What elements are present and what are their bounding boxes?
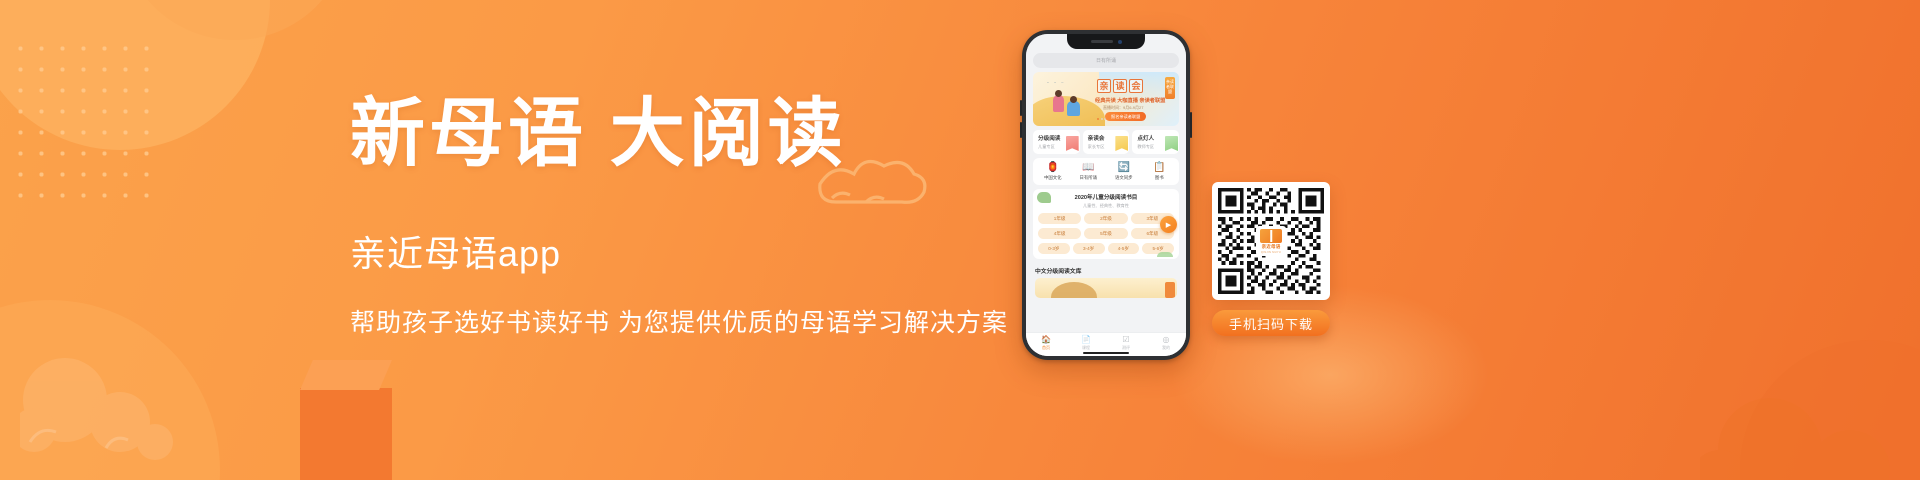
- phone-power-button: [1190, 112, 1192, 138]
- library-section: 中文分级阅读文库: [1033, 263, 1179, 298]
- grass-decor-icon: [1157, 252, 1173, 257]
- tab-label: 测评: [1122, 345, 1130, 351]
- assessment-icon: ☑: [1122, 335, 1129, 344]
- quicknav-item-chinese-culture[interactable]: 🏮 中国文化: [1035, 162, 1071, 181]
- app-screen: 日有所诵 ᵕ ᵕ ᵕ 亲 读 会 亲读者联盟 经典共读: [1026, 34, 1186, 356]
- banner-child-blue-head: [1070, 96, 1077, 103]
- decor-circle-top-left-2: [120, 0, 350, 40]
- speaker-icon: [1091, 40, 1113, 43]
- library-title: 中文分级阅读文库: [1035, 266, 1177, 275]
- decor-cloud-bottom-right: [1700, 360, 1920, 480]
- grade-tag[interactable]: 2年级: [1084, 213, 1127, 224]
- scan-download-button[interactable]: 手机扫码下载: [1212, 310, 1330, 336]
- app-promo-banner[interactable]: ᵕ ᵕ ᵕ 亲 读 会 亲读者联盟 经典共读 大咖直播 亲读者联盟 直播时间：9…: [1033, 72, 1179, 126]
- lantern-icon: 🏮: [1047, 162, 1059, 173]
- banner-cta-button[interactable]: 报名亲读者联盟: [1105, 112, 1146, 121]
- quicknav-label: 日有所诵: [1079, 175, 1097, 181]
- open-book-icon: 📖: [1082, 162, 1094, 173]
- search-input[interactable]: 日有所诵: [1033, 53, 1179, 68]
- tab-home[interactable]: 🏠 首页: [1026, 335, 1066, 351]
- grade-tag-row-2: 4年级 5年级 6年级: [1038, 228, 1174, 239]
- banner-child-blue: [1067, 101, 1080, 116]
- qr-code-panel: 亲近母语 QINJIN MUYU: [1212, 182, 1330, 300]
- decor-cloud-left-bottom: [20, 330, 190, 460]
- quicknav-label: 中国文化: [1044, 175, 1062, 181]
- age-tag[interactable]: 0-3岁: [1038, 243, 1070, 254]
- search-placeholder: 日有所诵: [1096, 57, 1116, 64]
- home-indicator: [1083, 352, 1129, 354]
- sync-icon: 🔄: [1118, 162, 1130, 173]
- profile-icon: ◎: [1163, 335, 1170, 344]
- quick-nav-row: 🏮 中国文化 📖 日有所诵 🔄 语文同步 📋 图书: [1033, 158, 1179, 185]
- phone-volume-down-button: [1020, 122, 1022, 138]
- banner-date: 直播时间：9月6-9月27: [1103, 105, 1143, 111]
- promo-banner: 新母语 大阅读 亲近母语app 帮助孩子选好书读好书 为您提供优质的母语学习解决…: [0, 0, 1920, 480]
- phone-mockup: 日有所诵 ᵕ ᵕ ᵕ 亲 读 会 亲读者联盟 经典共读: [1022, 30, 1190, 360]
- qr-logo-text: 亲近母语: [1262, 244, 1281, 250]
- entry-card-lamplighter[interactable]: 点灯人 教师专区: [1132, 130, 1179, 154]
- banner-child-pink-head: [1055, 90, 1062, 97]
- hero-text-block: 新母语 大阅读 亲近母语app 帮助孩子选好书读好书 为您提供优质的母语学习解决…: [350, 96, 1050, 339]
- banner-title-char-1: 亲: [1097, 79, 1111, 93]
- qr-code-image: 亲近母语 QINJIN MUYU: [1218, 188, 1324, 294]
- qr-center-logo: 亲近母语 QINJIN MUYU: [1256, 226, 1286, 256]
- dot-2[interactable]: [1101, 118, 1103, 120]
- quicknav-label: 图书: [1155, 175, 1164, 181]
- booklist-title: 2020年儿童分级阅读书目: [1038, 193, 1174, 201]
- quicknav-item-daily-recitation[interactable]: 📖 日有所诵: [1071, 162, 1107, 181]
- phone-volume-up-button: [1020, 100, 1022, 116]
- bottom-tab-bar: 🏠 首页 📄 课程 ☑ 测评 ◎ 我的: [1026, 332, 1186, 356]
- tab-label: 我的: [1162, 345, 1170, 351]
- library-card[interactable]: [1035, 278, 1177, 298]
- book-list-icon: 📋: [1153, 162, 1165, 173]
- video-play-button[interactable]: ▶: [1160, 216, 1177, 233]
- banner-ribbon: 亲读者联盟: [1165, 77, 1175, 99]
- phone-notch: [1067, 34, 1145, 49]
- tab-course[interactable]: 📄 课程: [1066, 335, 1106, 351]
- decor-circle-top-left: [0, 0, 270, 150]
- grade-tag[interactable]: 4年级: [1038, 228, 1081, 239]
- hero-headline: 新母语 大阅读: [350, 96, 1050, 175]
- front-camera-icon: [1118, 40, 1122, 44]
- entry-card-reading-club[interactable]: 亲读会 家长专区: [1083, 130, 1130, 154]
- grade-tag[interactable]: 1年级: [1038, 213, 1081, 224]
- decor-cube-top: [300, 360, 392, 390]
- phone-screen-frame: 日有所诵 ᵕ ᵕ ᵕ 亲 读 会 亲读者联盟 经典共读: [1026, 34, 1186, 356]
- open-book-logo-icon: [1260, 229, 1282, 243]
- library-arc-decor: [1051, 282, 1097, 298]
- banner-subtitle: 经典共读 大咖直播 亲读者联盟: [1095, 97, 1165, 104]
- decor-dot-grid: [10, 38, 160, 208]
- age-tag-row: 0-3岁 3-4岁 4-5岁 5-6岁: [1038, 243, 1174, 254]
- banner-child-pink: [1053, 95, 1064, 112]
- hero-subtitle: 亲近母语app: [350, 225, 1050, 277]
- quicknav-label: 语文同步: [1115, 175, 1133, 181]
- grade-tag-row-1: 1年级 2年级 3年级: [1038, 213, 1174, 224]
- tab-label: 首页: [1042, 345, 1050, 351]
- age-tag[interactable]: 3-4岁: [1073, 243, 1105, 254]
- tab-assessment[interactable]: ☑ 测评: [1106, 335, 1146, 351]
- booklist-section: 2020年儿童分级阅读书目 儿童性、经典性、教育性 1年级 2年级 3年级 4年…: [1033, 189, 1179, 259]
- quicknav-item-textbook-sync[interactable]: 🔄 语文同步: [1106, 162, 1142, 181]
- banner-title: 亲 读 会: [1097, 79, 1143, 93]
- banner-birds-icon: ᵕ ᵕ ᵕ: [1047, 80, 1065, 86]
- home-icon: 🏠: [1041, 335, 1051, 344]
- banner-title-char-3: 会: [1129, 79, 1143, 93]
- qr-logo-subtext: QINJIN MUYU: [1261, 251, 1281, 254]
- age-tag[interactable]: 4-5岁: [1108, 243, 1140, 254]
- course-icon: 📄: [1081, 335, 1091, 344]
- hero-tagline: 帮助孩子选好书读好书 为您提供优质的母语学习解决方案: [350, 303, 1050, 339]
- dot-active[interactable]: [1097, 118, 1099, 120]
- banner-title-char-2: 读: [1113, 79, 1127, 93]
- tab-label: 课程: [1082, 345, 1090, 351]
- booklist-subtitle: 儿童性、经典性、教育性: [1038, 203, 1174, 209]
- tab-profile[interactable]: ◎ 我的: [1146, 335, 1186, 351]
- leaf-icon: [1037, 192, 1051, 203]
- entry-card-graded-reading[interactable]: 分级阅读 儿童专区: [1033, 130, 1080, 154]
- entry-card-row: 分级阅读 儿童专区 亲读会 家长专区 点灯人 教师专区: [1033, 130, 1179, 154]
- quicknav-item-books[interactable]: 📋 图书: [1142, 162, 1178, 181]
- decor-cube: [300, 388, 392, 480]
- library-side-decor: [1165, 282, 1175, 298]
- grade-tag[interactable]: 5年级: [1084, 228, 1127, 239]
